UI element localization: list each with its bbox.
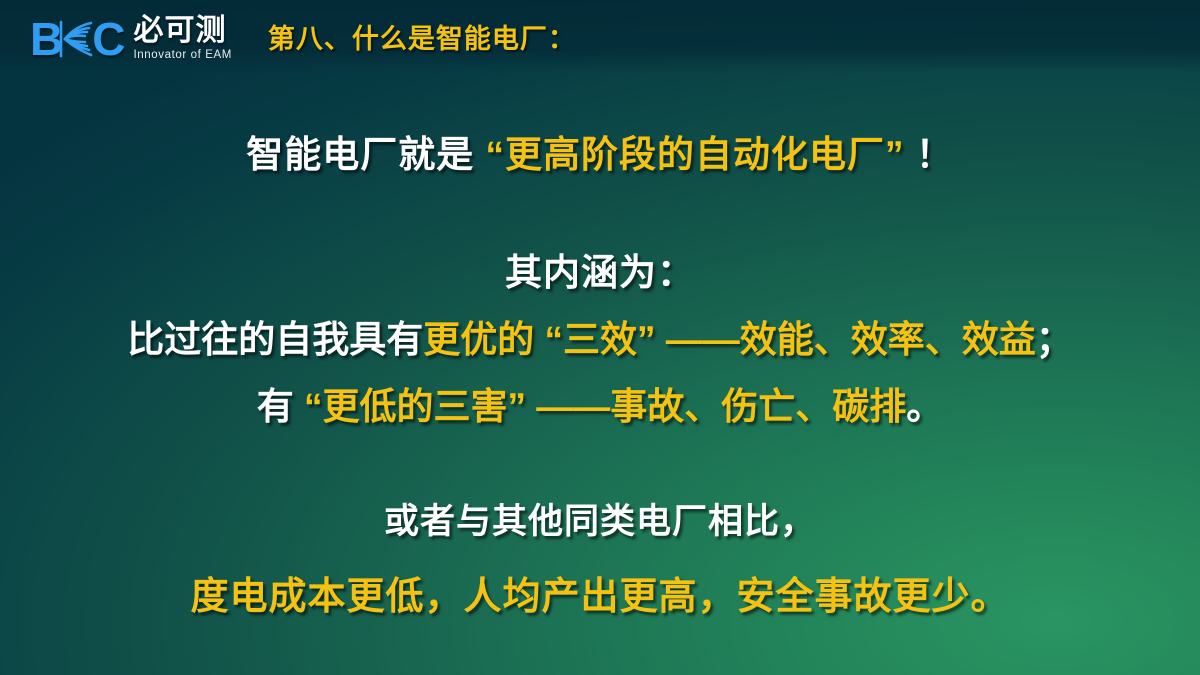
body-line-4: 有 “更低的三害” ——事故、伤亡、碳排。 xyxy=(0,376,1200,430)
slide-body: 智能电厂就是 “更高阶段的自动化电厂” ！ 其内涵为： 比过往的自我具有更优的 … xyxy=(0,78,1200,675)
body-line-3: 比过往的自我具有更优的 “三效” ——效能、效率、效益； xyxy=(0,309,1200,363)
text-segment: 有 xyxy=(257,386,304,427)
body-line-2: 其内涵为： xyxy=(0,242,1200,296)
text-segment: 智能电厂就是 xyxy=(246,134,485,175)
text-segment: 。 xyxy=(906,386,943,427)
text-segment: 或者与其他同类电厂相比， xyxy=(384,502,816,541)
logo-chinese-block: 必可测 Innovator of EAM xyxy=(133,14,231,64)
body-line-1: 智能电厂就是 “更高阶段的自动化电厂” ！ xyxy=(0,124,1200,178)
wave-k-icon xyxy=(58,18,94,60)
text-segment: 比过往的自我具有 xyxy=(127,319,423,360)
text-segment: 更优的 “三效” ——效能、效率、效益 xyxy=(423,319,1036,360)
page-title: 第八、什么是智能电厂： xyxy=(268,24,576,54)
logo-letter-c: C xyxy=(92,17,124,61)
logo-chinese-name: 必可测 xyxy=(133,16,231,46)
body-line-5: 或者与其他同类电厂相比， xyxy=(0,493,1200,544)
logo-tagline: Innovator of EAM xyxy=(133,48,231,62)
text-segment: ； xyxy=(1036,319,1073,360)
presentation-slide: B C 必可测 xyxy=(0,0,1200,675)
text-segment: 度电成本更低，人均产出更高，安全事故更少。 xyxy=(190,576,1009,618)
text-segment: “更高阶段的自动化电厂” xyxy=(486,134,905,175)
slide-header: B C 必可测 xyxy=(0,0,1200,78)
text-segment: “更低的三害” ——事故、伤亡、碳排 xyxy=(304,386,906,427)
company-logo: B C 必可测 xyxy=(30,13,232,65)
logo-wordmark: B C xyxy=(30,15,124,63)
body-line-6: 度电成本更低，人均产出更高，安全事故更少。 xyxy=(0,565,1200,620)
text-segment: 其内涵为： xyxy=(505,252,695,293)
text-segment: ！ xyxy=(905,134,954,175)
